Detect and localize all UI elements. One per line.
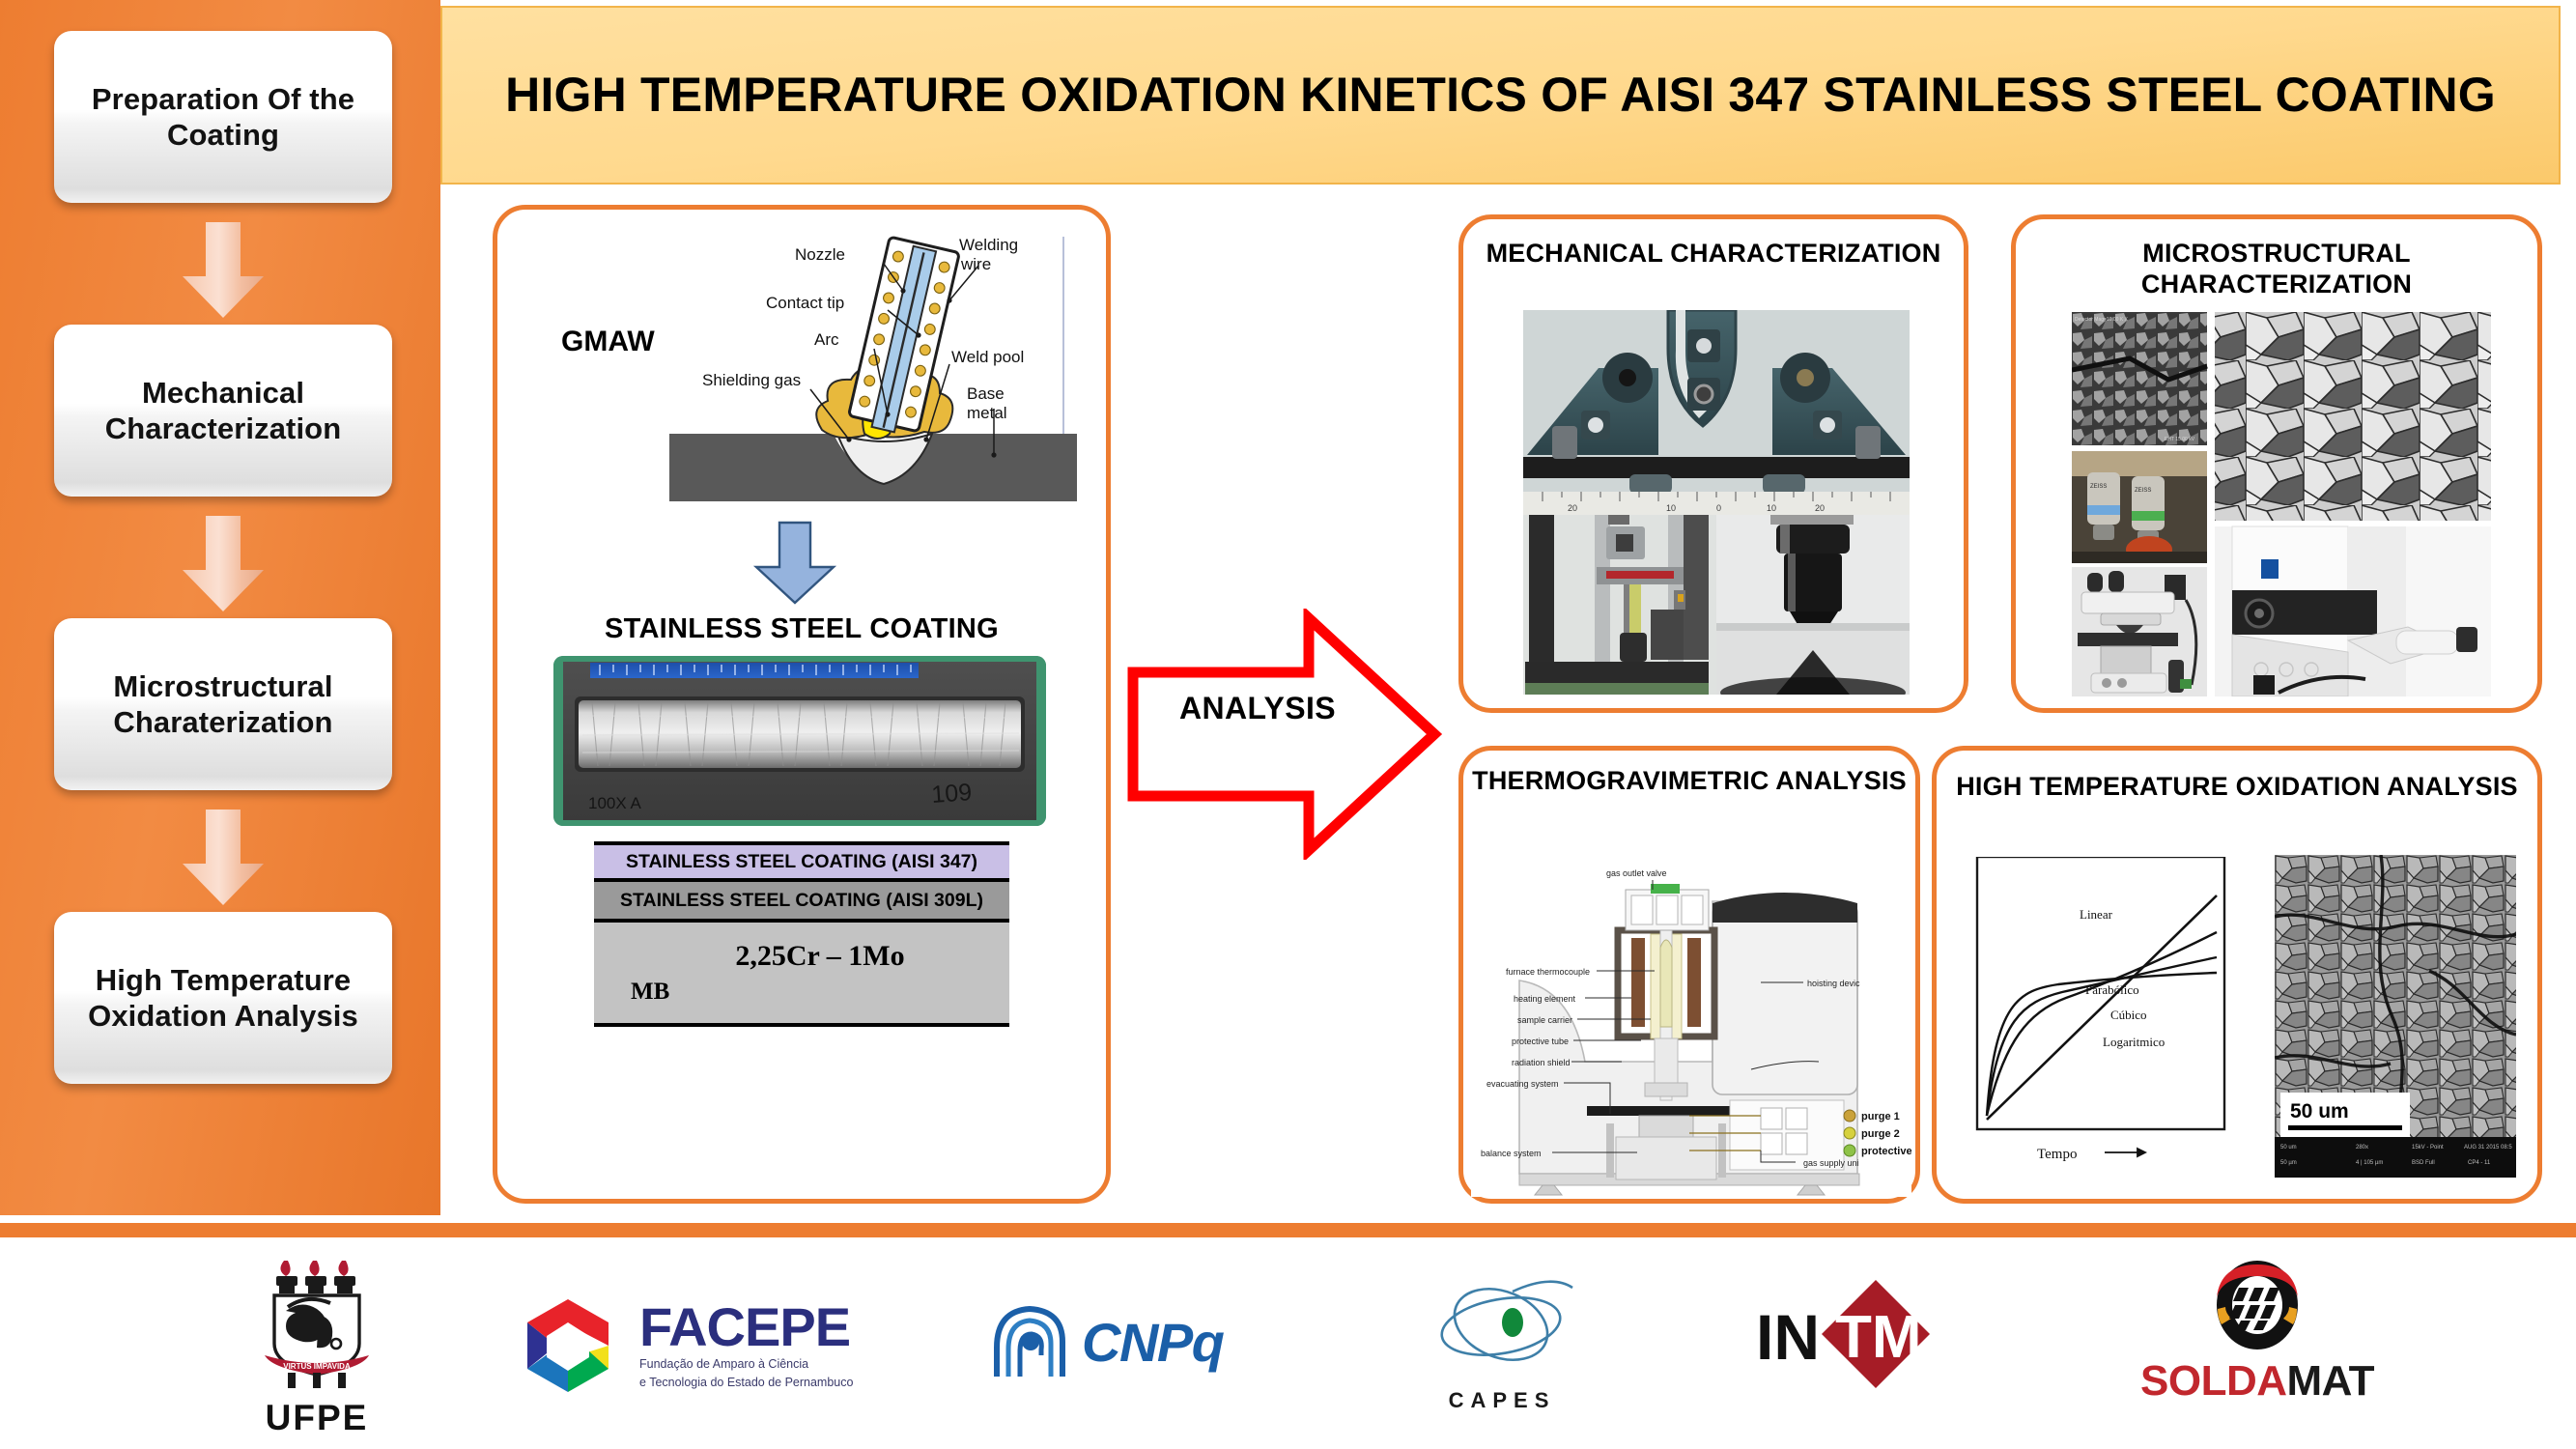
- svg-text:4 | 105 µm: 4 | 105 µm: [2356, 1160, 2383, 1166]
- gmaw-label-welding-wire-2: wire: [960, 255, 991, 273]
- intm-text-left: IN: [1756, 1301, 1820, 1373]
- tga-label-protective: protective: [1861, 1146, 1911, 1157]
- flow-arrow-1-icon: [179, 220, 268, 321]
- microstructure-photo-mosaic: Detector Mag=10.00 K X EHT 15.00 kV ZEIS…: [2072, 312, 2491, 696]
- layer-aisi-347: STAINLESS STEEL COATING (AISI 347): [594, 841, 1009, 882]
- svg-text:15kV - Point: 15kV - Point: [2412, 1145, 2444, 1151]
- logo-subtitle-line1: Fundação de Amparo à Ciência: [639, 1357, 853, 1373]
- tga-label-balance-system: balance system: [1481, 1149, 1542, 1158]
- gmaw-label-base-metal-1: Base: [967, 384, 1005, 403]
- capes-orbit-icon: [1420, 1270, 1584, 1386]
- logo-ufpe: VIRTUS IMPAVIDA UFPE: [259, 1255, 375, 1438]
- gmaw-diagram: Nozzle Welding wire Contact tip Arc Weld…: [660, 229, 1085, 509]
- curve-label-logaritmico: Logaritmico: [2103, 1035, 2165, 1049]
- process-card: GMAW: [493, 205, 1111, 1204]
- svg-text:ZEISS: ZEISS: [2090, 484, 2107, 490]
- gmaw-label-contact-tip: Contact tip: [766, 294, 844, 312]
- intm-diamond-icon: IN TM: [1746, 1274, 2017, 1400]
- scale-bar-label: 50 um: [2290, 1100, 2349, 1122]
- logo-facepe: FACEPE Fundação de Amparo à Ciência e Te…: [510, 1288, 853, 1404]
- analysis-label: ANALYSIS: [1161, 691, 1354, 726]
- poster-header: HIGH TEMPERATURE OXIDATION KINETICS OF A…: [440, 6, 2561, 185]
- gmaw-label-base-metal-2: metal: [967, 404, 1007, 422]
- logo-label: CNPq: [1082, 1311, 1223, 1374]
- ruler-tick: 0: [1716, 503, 1721, 513]
- layer-base-metal: 2,25Cr – 1Mo MB: [594, 923, 1009, 1027]
- coating-label: STAINLESS STEEL COATING: [497, 613, 1106, 645]
- card-title: HIGH TEMPERATURE OXIDATION ANALYSIS: [1937, 772, 2537, 803]
- footer-divider: [0, 1223, 2576, 1237]
- soldamat-emblem-icon: [2204, 1259, 2310, 1353]
- tga-label-sample-carrier: sample carrier: [1517, 1015, 1572, 1025]
- flow-arrow-2-icon: [179, 514, 268, 614]
- layer-label: STAINLESS STEEL COATING (AISI 347): [626, 851, 977, 873]
- logo-label: CAPES: [1449, 1388, 1556, 1413]
- cnpq-head-icon: [985, 1295, 1078, 1388]
- flow-step-mechanical[interactable]: Mechanical Characterization: [54, 325, 392, 497]
- tga-label-protective-tube: protective tube: [1512, 1037, 1569, 1046]
- logo-subtitle-line2: e Tecnologia do Estado de Pernambuco: [639, 1376, 853, 1391]
- layer-aisi-309l: STAINLESS STEEL COATING (AISI 309L): [594, 882, 1009, 923]
- tga-label-purge-1: purge 1: [1861, 1111, 1900, 1122]
- tga-label-hoisting-device: hoisting devic: [1807, 979, 1860, 988]
- logo-label: UFPE: [266, 1398, 369, 1438]
- flow-step-label: Preparation Of the Coating: [70, 81, 377, 153]
- card-title: MICROSTRUCTURAL CHARACTERIZATION: [2016, 239, 2537, 299]
- flow-step-label: Mechanical Characterization: [70, 375, 377, 446]
- high-temperature-oxidation-card: HIGH TEMPERATURE OXIDATION ANALYSIS Line…: [1932, 746, 2542, 1204]
- flow-step-label: High Temperature Oxidation Analysis: [70, 962, 377, 1034]
- poster-root: Preparation Of the Coating Mechanical Ch…: [0, 0, 2576, 1449]
- card-title: MECHANICAL CHARACTERIZATION: [1463, 239, 1964, 270]
- tga-instrument-diagram: furnace thermocouple heating element sam…: [1471, 834, 1911, 1197]
- logo-soldamat: SOLDAMAT: [2140, 1259, 2374, 1406]
- tga-label-evacuating-system: evacuating system: [1486, 1079, 1559, 1089]
- sample-mark-right: 109: [930, 779, 973, 809]
- gmaw-label-welding-wire-1: Welding: [959, 236, 1018, 254]
- facepe-hexagon-icon: [510, 1288, 626, 1404]
- svg-text:Detector Mag=10.00 K X: Detector Mag=10.00 K X: [2075, 317, 2129, 323]
- svg-text:AUG 31 2015 08:5: AUG 31 2015 08:5: [2464, 1145, 2512, 1151]
- down-arrow-icon: [747, 521, 843, 606]
- ruler-tick: 10: [1767, 503, 1776, 513]
- layer-label: STAINLESS STEEL COATING (AISI 309L): [620, 890, 983, 912]
- flow-arrow-3-icon: [179, 808, 268, 908]
- svg-text:50 µm: 50 µm: [2280, 1160, 2297, 1166]
- ruler-tick: 10: [1666, 503, 1676, 513]
- svg-text:280x: 280x: [2356, 1145, 2368, 1151]
- svg-text:BSD Full: BSD Full: [2412, 1160, 2435, 1166]
- sponsor-logos-footer: VIRTUS IMPAVIDA UFPE: [0, 1237, 2576, 1449]
- svg-text:ZEISS: ZEISS: [2135, 488, 2151, 494]
- ufpe-motto: VIRTUS IMPAVIDA: [283, 1362, 351, 1371]
- logo-intm: IN TM: [1746, 1274, 2017, 1400]
- oxidation-kinetics-chart: Linear Parabólico Cúbico Logaritmico Tem…: [1973, 857, 2246, 1176]
- gmaw-label-nozzle: Nozzle: [795, 245, 845, 264]
- curve-label-cubico: Cúbico: [2110, 1008, 2147, 1022]
- gmaw-label-weld-pool: Weld pool: [951, 348, 1024, 366]
- microstructural-characterization-card: MICROSTRUCTURAL CHARACTERIZATION: [2011, 214, 2542, 713]
- logo-label: FACEPE: [639, 1300, 853, 1354]
- logo-cnpq: CNPq: [985, 1295, 1223, 1388]
- flow-step-microstructural[interactable]: Microstructural Charaterization: [54, 618, 392, 790]
- curve-label-parabolico: Parabólico: [2085, 982, 2139, 997]
- ufpe-crest-icon: VIRTUS IMPAVIDA: [259, 1255, 375, 1394]
- ruler-tick: 20: [1568, 503, 1577, 513]
- tga-label-furnace-thermocouple: furnace thermocouple: [1506, 967, 1590, 977]
- analysis-arrow-icon: [1125, 609, 1502, 860]
- logo-capes: CAPES: [1420, 1270, 1584, 1413]
- process-flow-sidebar: Preparation Of the Coating Mechanical Ch…: [0, 0, 440, 1215]
- layer-label: 2,25Cr – 1Mo: [735, 940, 904, 973]
- gmaw-label-arc: Arc: [814, 330, 839, 349]
- coating-sample-photo: 100X A 109: [553, 656, 1046, 826]
- logo-label-solda: SOLDA: [2140, 1357, 2287, 1405]
- card-title: THERMOGRAVIMETRIC ANALYSIS: [1463, 766, 1915, 797]
- svg-text:EHT 15.00 kV: EHT 15.00 kV: [2165, 437, 2195, 442]
- mechanical-test-photo: 20 10 0 10 20: [1523, 310, 1910, 695]
- flow-step-label: Microstructural Charaterization: [70, 668, 377, 740]
- oxide-sem-micrograph: 50 um 50 um280x 15kV - PointAUG 31 2015 …: [2275, 855, 2516, 1178]
- flow-step-oxidation[interactable]: High Temperature Oxidation Analysis: [54, 912, 392, 1084]
- logo-label-mat: MAT: [2287, 1357, 2375, 1405]
- flow-step-preparation[interactable]: Preparation Of the Coating: [54, 31, 392, 203]
- curve-label-linear: Linear: [2080, 907, 2113, 922]
- page-title: HIGH TEMPERATURE OXIDATION KINETICS OF A…: [505, 67, 2496, 124]
- svg-text:CP4 - 11: CP4 - 11: [2468, 1160, 2491, 1166]
- tga-label-purge-2: purge 2: [1861, 1128, 1900, 1140]
- tga-label-gas-supply-unit: gas supply uni: [1803, 1158, 1859, 1168]
- tga-label-heating-element: heating element: [1514, 994, 1576, 1004]
- gmaw-label-shielding-gas: Shielding gas: [702, 371, 801, 389]
- chart-xlabel: Tempo: [2037, 1147, 2077, 1162]
- tga-label-gas-outlet-valve: gas outlet valve: [1606, 868, 1667, 878]
- gmaw-label: GMAW: [561, 326, 655, 358]
- mechanical-characterization-card: MECHANICAL CHARACTERIZATION: [1458, 214, 1968, 713]
- tga-label-radiation-shield: radiation shield: [1512, 1058, 1571, 1067]
- ruler-tick: 20: [1815, 503, 1825, 513]
- svg-text:50 um: 50 um: [2280, 1145, 2297, 1151]
- intm-text-diamond: TM: [1835, 1304, 1922, 1371]
- coating-layer-stack: STAINLESS STEEL COATING (AISI 347) STAIN…: [594, 841, 1009, 1027]
- thermogravimetric-analysis-card: THERMOGRAVIMETRIC ANALYSIS: [1458, 746, 1920, 1204]
- sample-mark-left: 100X A: [588, 794, 641, 812]
- layer-sublabel: MB: [631, 979, 669, 1006]
